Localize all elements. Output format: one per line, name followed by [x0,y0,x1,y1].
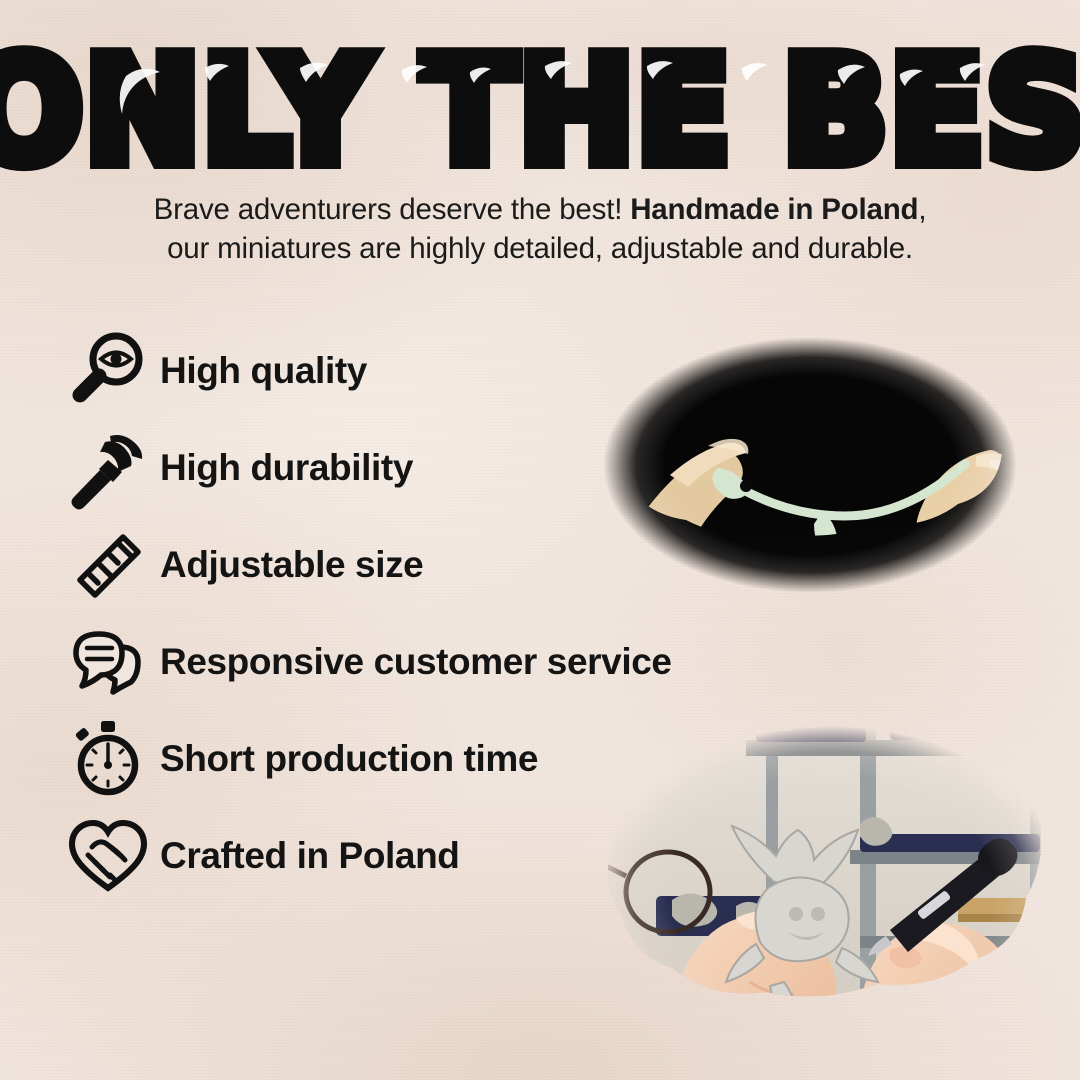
subtitle: Brave adventurers deserve the best! Hand… [60,190,1020,268]
painting-miniature-photo [560,700,1080,1080]
feature-label: Crafted in Poland [160,835,460,877]
poster-canvas: ONLY THE BEST Brave adventurers deserve … [0,0,1080,1080]
feature-label: Responsive customer service [160,641,672,683]
headline-block: ONLY THE BEST [0,38,1080,168]
feature-label: Short production time [160,738,538,780]
subtitle-line1-bold: Handmade in Poland [630,193,918,226]
ruler-icon [62,519,154,611]
subtitle-line2: our miniatures are highly detailed, adju… [167,232,913,265]
subtitle-line1-tail: , [918,193,926,226]
page-title: ONLY THE BEST [0,38,1080,184]
speech-bubbles-icon [62,616,154,708]
stopwatch-icon [62,713,154,805]
feature-label: High quality [160,350,367,392]
feature-label: Adjustable size [160,544,423,586]
feature-label: High durability [160,447,413,489]
heart-handshake-icon [62,810,154,902]
magnifier-eye-icon [62,325,154,417]
hammer-icon [62,422,154,514]
flexible-miniature-photo [560,300,1060,630]
subtitle-line1-plain: Brave adventurers deserve the best! [154,193,631,226]
